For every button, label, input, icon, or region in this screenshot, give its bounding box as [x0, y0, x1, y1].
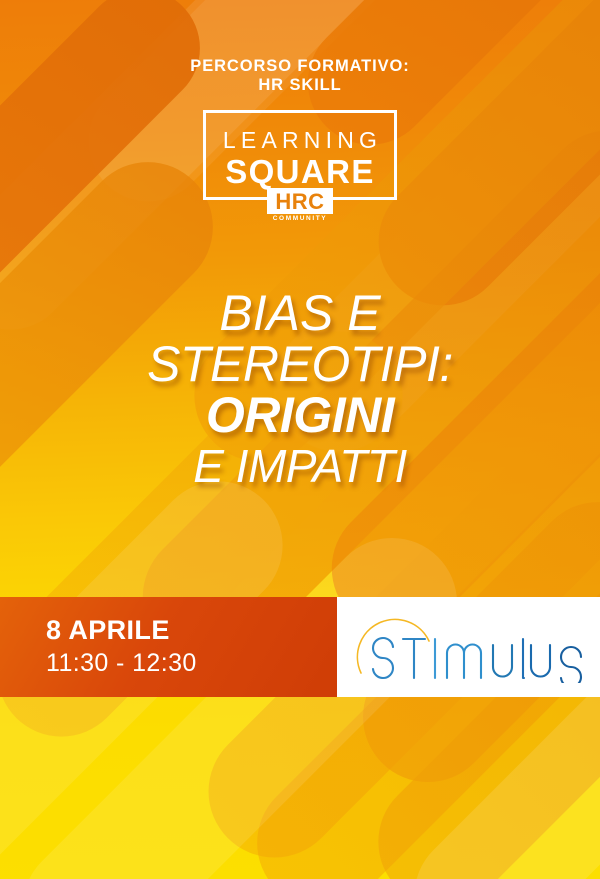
- title-line-2: STEREOTIPI:: [0, 339, 600, 390]
- kicker-line-2: HR SKILL: [0, 76, 600, 95]
- logo-word-learning: LEARNING: [206, 127, 394, 153]
- hrc-badge-text: HRC: [273, 191, 327, 213]
- stimulus-logo: [355, 611, 587, 683]
- title-line-3: ORIGINI: [0, 390, 600, 441]
- poster-title: BIAS E STEREOTIPI: ORIGINI E IMPATTI: [0, 288, 600, 492]
- event-time: 11:30 - 12:30: [46, 647, 197, 679]
- kicker-line-1: PERCORSO FORMATIVO:: [190, 57, 409, 75]
- logo-word-square: SQUARE: [206, 153, 394, 191]
- learning-square-logo: LEARNING SQUARE: [203, 110, 397, 200]
- sponsor-panel: [337, 597, 600, 697]
- hrc-community-label: COMMUNITY: [273, 215, 327, 222]
- title-line-1: BIAS E: [0, 288, 600, 339]
- event-date: 8 APRILE: [46, 614, 197, 647]
- date-time-band: 8 APRILE 11:30 - 12:30: [0, 597, 337, 697]
- title-line-4: E IMPATTI: [0, 441, 600, 492]
- stimulus-wordmark: [373, 638, 581, 683]
- hrc-badge: HRC: [267, 188, 333, 214]
- event-poster: PERCORSO FORMATIVO: HR SKILL LEARNING SQ…: [0, 0, 600, 879]
- kicker-heading: PERCORSO FORMATIVO: HR SKILL: [0, 57, 600, 95]
